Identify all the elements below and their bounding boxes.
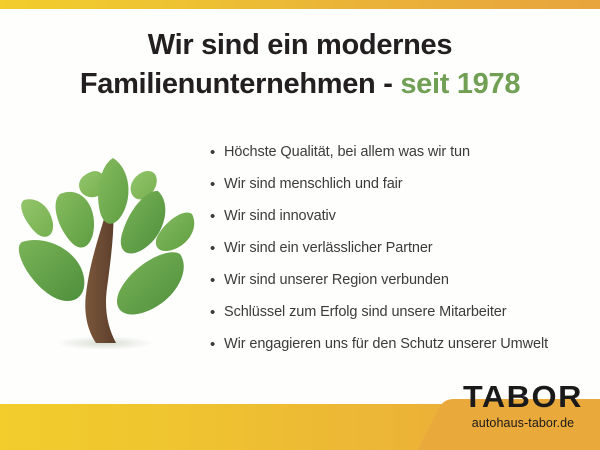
tree-svg <box>12 142 198 360</box>
list-item: • Wir sind menschlich und fair <box>210 175 595 207</box>
bullet-icon: • <box>210 175 224 194</box>
list-item-label: Wir sind menschlich und fair <box>224 175 403 194</box>
bullet-icon: • <box>210 239 224 258</box>
page-title: Wir sind ein modernes Familienunternehme… <box>0 26 600 104</box>
bullet-icon: • <box>210 207 224 226</box>
list-item: • Wir engagieren uns für den Schutz unse… <box>210 335 595 367</box>
brand-wordmark: TABOR <box>448 381 598 413</box>
bullet-icon: • <box>210 335 224 354</box>
slide-canvas: Wir sind ein modernes Familienunternehme… <box>0 0 600 450</box>
list-item: • Höchste Qualität, bei allem was wir tu… <box>210 143 595 175</box>
list-item-label: Wir sind innovativ <box>224 207 336 226</box>
bullet-icon: • <box>210 271 224 290</box>
value-bullet-list: • Höchste Qualität, bei allem was wir tu… <box>210 143 595 367</box>
list-item: • Schlüssel zum Erfolg sind unsere Mitar… <box>210 303 595 335</box>
list-item-label: Wir sind ein verlässlicher Partner <box>224 239 433 258</box>
list-item-label: Schlüssel zum Erfolg sind unsere Mitarbe… <box>224 303 507 322</box>
tree-illustration <box>12 142 198 360</box>
headline-line-2-prefix: Familienunternehmen - <box>80 68 401 100</box>
list-item-label: Wir engagieren uns für den Schutz unsere… <box>224 335 548 354</box>
list-item: • Wir sind unserer Region verbunden <box>210 271 595 303</box>
top-accent-bar <box>0 0 600 9</box>
headline-line-2: Familienunternehmen - seit 1978 <box>0 65 600 104</box>
list-item: • Wir sind ein verlässlicher Partner <box>210 239 595 271</box>
list-item-label: Wir sind unserer Region verbunden <box>224 271 449 290</box>
headline-line-1: Wir sind ein modernes <box>0 26 600 65</box>
brand-tagline: autohaus-tabor.de <box>451 415 595 431</box>
headline-accent-year: seit 1978 <box>400 68 520 100</box>
bullet-icon: • <box>210 303 224 322</box>
list-item: • Wir sind innovativ <box>210 207 595 239</box>
bullet-icon: • <box>210 143 224 162</box>
list-item-label: Höchste Qualität, bei allem was wir tun <box>224 143 470 162</box>
brand-logo[interactable]: TABOR autohaus-tabor.de <box>451 381 595 431</box>
